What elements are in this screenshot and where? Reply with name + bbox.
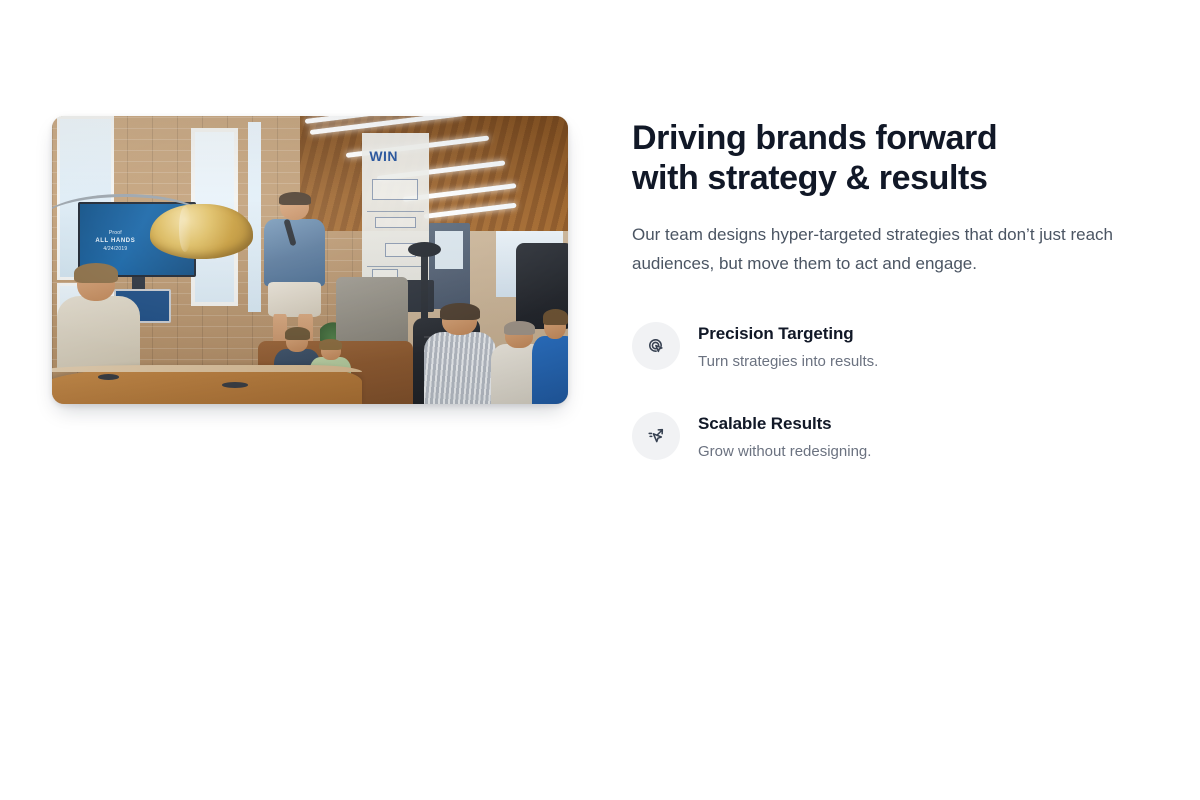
section-subtext: Our team designs hyper-targeted strategi… bbox=[632, 220, 1148, 278]
feature-description: Grow without redesigning. bbox=[698, 442, 871, 462]
presenter-shorts bbox=[268, 282, 321, 317]
media-column: WIN Proof ALL HANDS 4/24/2019 bbox=[52, 116, 568, 404]
headline-line-2: with strategy & results bbox=[632, 159, 987, 197]
presenter-shirt bbox=[264, 219, 325, 286]
feature-item-precision-targeting: Precision Targeting Turn strategies into… bbox=[632, 322, 1148, 372]
presenter-hair bbox=[279, 192, 312, 205]
landing-section-page: WIN Proof ALL HANDS 4/24/2019 bbox=[0, 0, 1200, 800]
feature-section: WIN Proof ALL HANDS 4/24/2019 bbox=[52, 116, 1148, 462]
page-title: Driving brands forwardwith strategy & re… bbox=[632, 118, 1132, 198]
person-body bbox=[532, 336, 568, 404]
screen-line-2: ALL HANDS bbox=[89, 237, 142, 246]
person-body bbox=[57, 296, 140, 373]
person-hair bbox=[319, 339, 342, 350]
person-body bbox=[424, 332, 496, 404]
office-door bbox=[429, 223, 470, 309]
feature-list: Precision Targeting Turn strategies into… bbox=[632, 322, 1148, 462]
table-microphone-puck bbox=[98, 374, 119, 380]
feature-text-block: Precision Targeting Turn strategies into… bbox=[698, 322, 878, 372]
feature-title: Precision Targeting bbox=[698, 323, 878, 345]
feature-item-scalable-results: Scalable Results Grow without redesignin… bbox=[632, 412, 1148, 462]
person-hair bbox=[285, 327, 311, 340]
person-hair bbox=[543, 309, 568, 325]
feature-text-block: Scalable Results Grow without redesignin… bbox=[698, 412, 871, 462]
mural-win-text: WIN bbox=[369, 148, 398, 164]
cursor-scale-arrow-icon bbox=[632, 412, 680, 460]
person-hair bbox=[504, 321, 535, 335]
hero-image-frame: WIN Proof ALL HANDS 4/24/2019 bbox=[52, 116, 568, 404]
feature-title: Scalable Results bbox=[698, 413, 871, 435]
feature-description: Turn strategies into results. bbox=[698, 352, 878, 372]
mural-sketch-line bbox=[367, 211, 424, 212]
mural-sketch-line bbox=[367, 266, 424, 267]
screen-line-3: 4/24/2019 bbox=[103, 246, 127, 252]
screen-line-1: Proof bbox=[109, 230, 122, 236]
person-hair bbox=[74, 263, 119, 283]
office-all-hands-meeting-photo: WIN Proof ALL HANDS 4/24/2019 bbox=[52, 116, 568, 404]
audience-person bbox=[532, 312, 568, 404]
screen-text-block: Proof ALL HANDS 4/24/2019 bbox=[89, 230, 142, 253]
headline-line-1: Driving brands forward bbox=[632, 119, 997, 157]
gold-pendant-lamp bbox=[150, 204, 253, 259]
audience-person bbox=[424, 306, 496, 404]
person-hair bbox=[440, 303, 480, 320]
conference-table bbox=[52, 367, 362, 404]
text-column: Driving brands forwardwith strategy & re… bbox=[632, 116, 1148, 462]
seated-person-left bbox=[57, 266, 140, 373]
mural-sketch-box bbox=[372, 179, 418, 199]
cursor-click-target-icon bbox=[632, 322, 680, 370]
mural-sketch-box bbox=[375, 217, 416, 229]
conference-table-edge bbox=[52, 365, 362, 372]
